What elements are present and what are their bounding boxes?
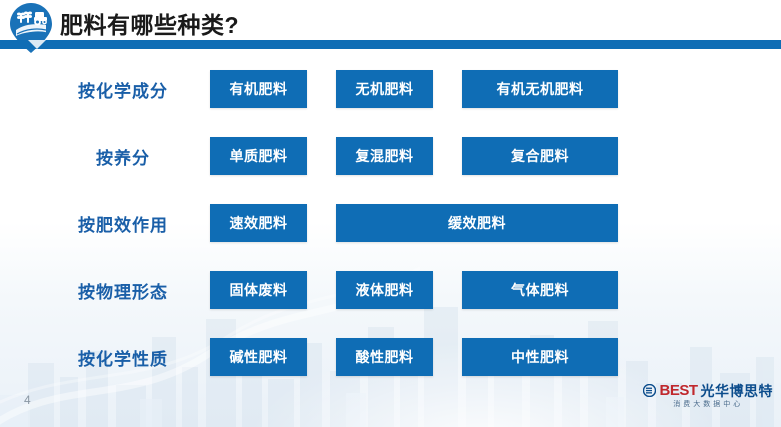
category-chip[interactable]: 固体废料: [210, 271, 307, 309]
brand-logo-row: BEST 光华博思特: [643, 383, 773, 398]
brand-logo: BEST 光华博思特 消费大数据中心: [643, 383, 773, 417]
category-chip[interactable]: 无机肥料: [336, 70, 433, 108]
fertilizer-classification-table: 按化学成分 有机肥料 无机肥料 有机无机肥料 按养分 单质肥料 复混肥料 复合肥…: [0, 56, 781, 391]
row-cells: 速效肥料 缓效肥料: [210, 190, 770, 257]
slide-canvas: 肥料有哪些种类? 按化学成分 有机肥料 无机肥料 有机无机肥料 按养分 单质肥料…: [0, 0, 781, 427]
row-cells: 碱性肥料 酸性肥料 中性肥料: [210, 324, 770, 391]
category-chip[interactable]: 气体肥料: [462, 271, 618, 309]
category-chip[interactable]: 复混肥料: [336, 137, 433, 175]
table-row: 按养分 单质肥料 复混肥料 复合肥料: [0, 123, 781, 190]
row-label-chemical-property: 按化学性质: [48, 324, 198, 391]
row-label-chemical-composition: 按化学成分: [48, 56, 198, 123]
table-row: 按化学成分 有机肥料 无机肥料 有机无机肥料: [0, 56, 781, 123]
brand-subtitle: 消费大数据中心: [673, 401, 743, 408]
brand-name-text: 光华博思特: [701, 384, 774, 398]
brand-mark-text: BEST: [659, 383, 697, 398]
row-label-physical-form: 按物理形态: [48, 257, 198, 324]
category-chip[interactable]: 液体肥料: [336, 271, 433, 309]
category-chip[interactable]: 单质肥料: [210, 137, 307, 175]
category-chip[interactable]: 碱性肥料: [210, 338, 307, 376]
divider-notch-icon: [28, 40, 46, 49]
row-cells: 有机肥料 无机肥料 有机无机肥料: [210, 56, 770, 123]
category-chip-wide[interactable]: 缓效肥料: [336, 204, 618, 242]
table-row: 按物理形态 固体废料 液体肥料 气体肥料: [0, 257, 781, 324]
page-title: 肥料有哪些种类?: [60, 6, 239, 40]
category-chip[interactable]: 有机肥料: [210, 70, 307, 108]
category-chip[interactable]: 中性肥料: [462, 338, 618, 376]
page-number: 4: [24, 393, 31, 407]
row-cells: 单质肥料 复混肥料 复合肥料: [210, 123, 770, 190]
row-label-fertilizer-effect: 按肥效作用: [48, 190, 198, 257]
header-divider-bar: [0, 40, 781, 49]
category-chip[interactable]: 有机无机肥料: [462, 70, 618, 108]
row-cells: 固体废料 液体肥料 气体肥料: [210, 257, 770, 324]
row-label-nutrient: 按养分: [48, 123, 198, 190]
category-chip[interactable]: 复合肥料: [462, 137, 618, 175]
table-row: 按肥效作用 速效肥料 缓效肥料: [0, 190, 781, 257]
category-chip[interactable]: 酸性肥料: [336, 338, 433, 376]
best-mark-icon: [643, 384, 656, 397]
table-row: 按化学性质 碱性肥料 酸性肥料 中性肥料: [0, 324, 781, 391]
category-chip[interactable]: 速效肥料: [210, 204, 307, 242]
